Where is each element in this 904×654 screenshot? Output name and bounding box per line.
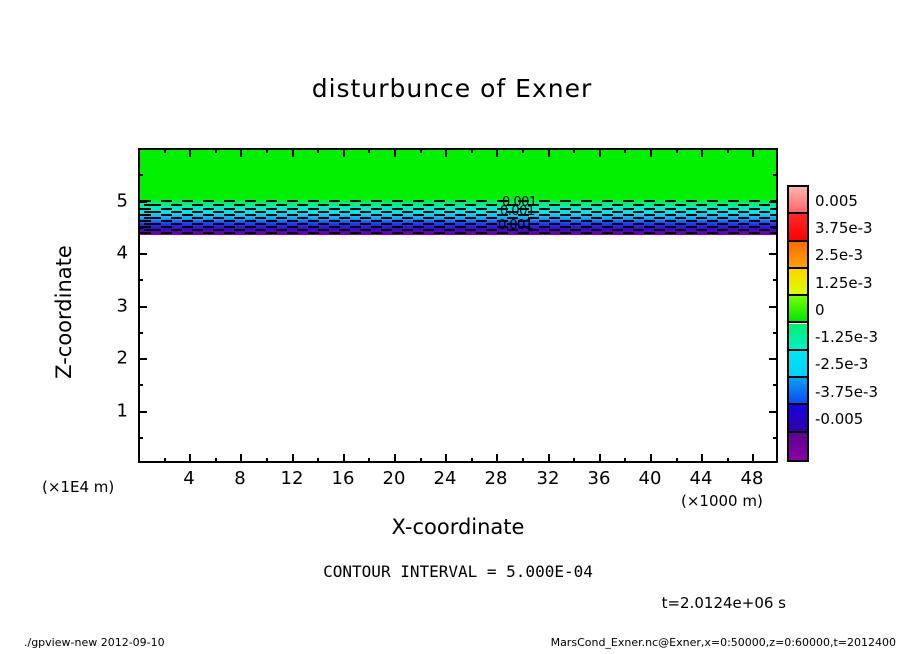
x-tick-bottom-22 — [420, 458, 422, 463]
x-tick-top-4 — [189, 148, 191, 157]
colorbar-tick-label-7: -3.75e-3 — [815, 383, 878, 401]
colorbar-tick-label-3: 1.25e-3 — [815, 274, 873, 292]
x-tick-top-38 — [624, 148, 626, 153]
contour-line-3 — [140, 211, 776, 213]
y-tick-right-2.5 — [773, 332, 778, 334]
x-tick-top-14 — [317, 148, 319, 153]
x-tick-label-40: 40 — [639, 468, 662, 489]
x-tick-label-4: 4 — [183, 468, 194, 489]
contour-value-label-2: 0.001 — [500, 204, 535, 219]
y-tick-right-2 — [769, 358, 778, 360]
footer-source-label: MarsCond_Exner.nc@Exner,x=0:50000,z=0:60… — [0, 636, 896, 649]
x-tick-bottom-10 — [266, 458, 268, 463]
y-tick-label-1: 1 — [108, 401, 128, 422]
contour-line-2 — [140, 208, 776, 210]
y-tick-right-1.5 — [773, 384, 778, 386]
y-tick-left-5 — [138, 201, 147, 203]
x-tick-bottom-12 — [292, 454, 294, 463]
y-tick-right-5 — [769, 201, 778, 203]
y-tick-left-4 — [138, 253, 147, 255]
y-axis-unit-label: (×1E4 m) — [42, 478, 114, 496]
x-tick-bottom-44 — [701, 454, 703, 463]
contour-line-8 — [140, 226, 776, 228]
x-tick-bottom-42 — [676, 458, 678, 463]
x-tick-label-8: 8 — [234, 468, 245, 489]
plot-title: disturbunce of Exner — [0, 74, 904, 103]
x-tick-top-22 — [420, 148, 422, 153]
colorbar-tick-label-1: 3.75e-3 — [815, 219, 873, 237]
y-tick-left-2.5 — [138, 332, 143, 334]
x-tick-top-10 — [266, 148, 268, 153]
x-tick-top-8 — [240, 148, 242, 157]
contour-line-9 — [140, 229, 776, 231]
colorbar-tick-label-4: 0 — [815, 301, 825, 319]
x-tick-bottom-24 — [445, 454, 447, 463]
colorbar-band-6 — [789, 351, 807, 378]
contour-line-overlay — [140, 198, 776, 235]
x-tick-bottom-40 — [650, 454, 652, 463]
y-tick-right-1 — [769, 411, 778, 413]
x-tick-label-12: 12 — [281, 468, 304, 489]
x-tick-top-46 — [727, 148, 729, 153]
colorbar-band-4 — [789, 296, 807, 323]
colorbar-tick-label-8: -0.005 — [815, 410, 863, 428]
colorbar-band-1 — [789, 214, 807, 241]
y-tick-label-5: 5 — [108, 191, 128, 212]
x-tick-label-28: 28 — [485, 468, 508, 489]
colorbar — [787, 185, 809, 462]
y-tick-right-3 — [769, 306, 778, 308]
x-tick-top-48 — [752, 148, 754, 157]
contour-line-1 — [140, 204, 776, 206]
y-tick-left-3.5 — [138, 279, 143, 281]
x-tick-label-20: 20 — [383, 468, 406, 489]
y-tick-right-0.5 — [773, 437, 778, 439]
colorbar-tick-label-6: -2.5e-3 — [815, 355, 868, 373]
x-tick-label-16: 16 — [332, 468, 355, 489]
contour-line-7 — [140, 223, 776, 225]
contour-value-label-3: 0.001 — [498, 218, 533, 233]
colorbar-band-8 — [789, 405, 807, 432]
contour-line-0 — [140, 200, 776, 202]
contour-line-4 — [140, 214, 776, 216]
x-tick-top-36 — [599, 148, 601, 157]
contour-interval-note: CONTOUR INTERVAL = 5.000E-04 — [138, 562, 778, 581]
x-tick-top-20 — [394, 148, 396, 157]
y-tick-right-5.5 — [773, 174, 778, 176]
y-tick-left-0.5 — [138, 437, 143, 439]
time-stamp-label: t=2.0124e+06 s — [0, 594, 786, 612]
colorbar-band-2 — [789, 242, 807, 269]
x-tick-bottom-18 — [368, 458, 370, 463]
colorbar-tick-label-5: -1.25e-3 — [815, 328, 878, 346]
x-tick-bottom-16 — [343, 454, 345, 463]
x-tick-top-40 — [650, 148, 652, 157]
y-tick-left-1.5 — [138, 384, 143, 386]
x-tick-bottom-6 — [215, 458, 217, 463]
x-tick-top-2 — [164, 148, 166, 153]
x-axis-title: X-coordinate — [138, 515, 778, 539]
y-tick-label-4: 4 — [108, 243, 128, 264]
colorbar-band-0 — [789, 187, 807, 214]
x-tick-label-48: 48 — [741, 468, 764, 489]
x-tick-top-32 — [548, 148, 550, 157]
y-tick-left-2 — [138, 358, 147, 360]
x-tick-top-30 — [522, 148, 524, 153]
contour-line-10 — [140, 232, 776, 234]
x-tick-label-32: 32 — [537, 468, 560, 489]
x-tick-bottom-46 — [727, 458, 729, 463]
x-tick-top-34 — [573, 148, 575, 153]
y-axis-title: Z-coordinate — [52, 212, 76, 412]
x-tick-bottom-28 — [496, 454, 498, 463]
x-tick-bottom-36 — [599, 454, 601, 463]
x-tick-label-36: 36 — [588, 468, 611, 489]
x-tick-top-18 — [368, 148, 370, 153]
x-tick-label-24: 24 — [434, 468, 457, 489]
x-tick-top-12 — [292, 148, 294, 157]
x-tick-bottom-14 — [317, 458, 319, 463]
y-tick-right-4 — [769, 253, 778, 255]
x-tick-bottom-8 — [240, 454, 242, 463]
y-tick-left-1 — [138, 411, 147, 413]
x-tick-top-44 — [701, 148, 703, 157]
x-tick-top-42 — [676, 148, 678, 153]
x-tick-top-16 — [343, 148, 345, 157]
contour-line-6 — [140, 220, 776, 222]
x-tick-label-44: 44 — [690, 468, 713, 489]
x-tick-bottom-48 — [752, 454, 754, 463]
x-tick-bottom-2 — [164, 458, 166, 463]
x-tick-bottom-26 — [471, 458, 473, 463]
y-tick-right-3.5 — [773, 279, 778, 281]
y-tick-label-3: 3 — [108, 296, 128, 317]
x-tick-top-24 — [445, 148, 447, 157]
y-tick-left-3 — [138, 306, 147, 308]
plot-area: 0.001 0.001 0.001 — [138, 148, 778, 463]
y-tick-right-4.5 — [773, 227, 778, 229]
colorbar-tick-label-2: 2.5e-3 — [815, 246, 863, 264]
colorbar-band-3 — [789, 269, 807, 296]
x-axis-unit-label: (×1000 m) — [681, 492, 763, 510]
y-tick-left-4.5 — [138, 227, 143, 229]
colorbar-band-7 — [789, 378, 807, 405]
x-tick-bottom-20 — [394, 454, 396, 463]
x-tick-bottom-30 — [522, 458, 524, 463]
colorbar-band-5 — [789, 324, 807, 351]
x-tick-top-26 — [471, 148, 473, 153]
colorbar-tick-label-0: 0.005 — [815, 192, 858, 210]
x-tick-bottom-38 — [624, 458, 626, 463]
y-tick-left-5.5 — [138, 174, 143, 176]
x-tick-bottom-4 — [189, 454, 191, 463]
x-tick-bottom-34 — [573, 458, 575, 463]
x-tick-top-28 — [496, 148, 498, 157]
y-tick-label-2: 2 — [108, 348, 128, 369]
x-tick-top-6 — [215, 148, 217, 153]
x-tick-bottom-32 — [548, 454, 550, 463]
contour-line-5 — [140, 217, 776, 219]
colorbar-band-9 — [789, 433, 807, 460]
